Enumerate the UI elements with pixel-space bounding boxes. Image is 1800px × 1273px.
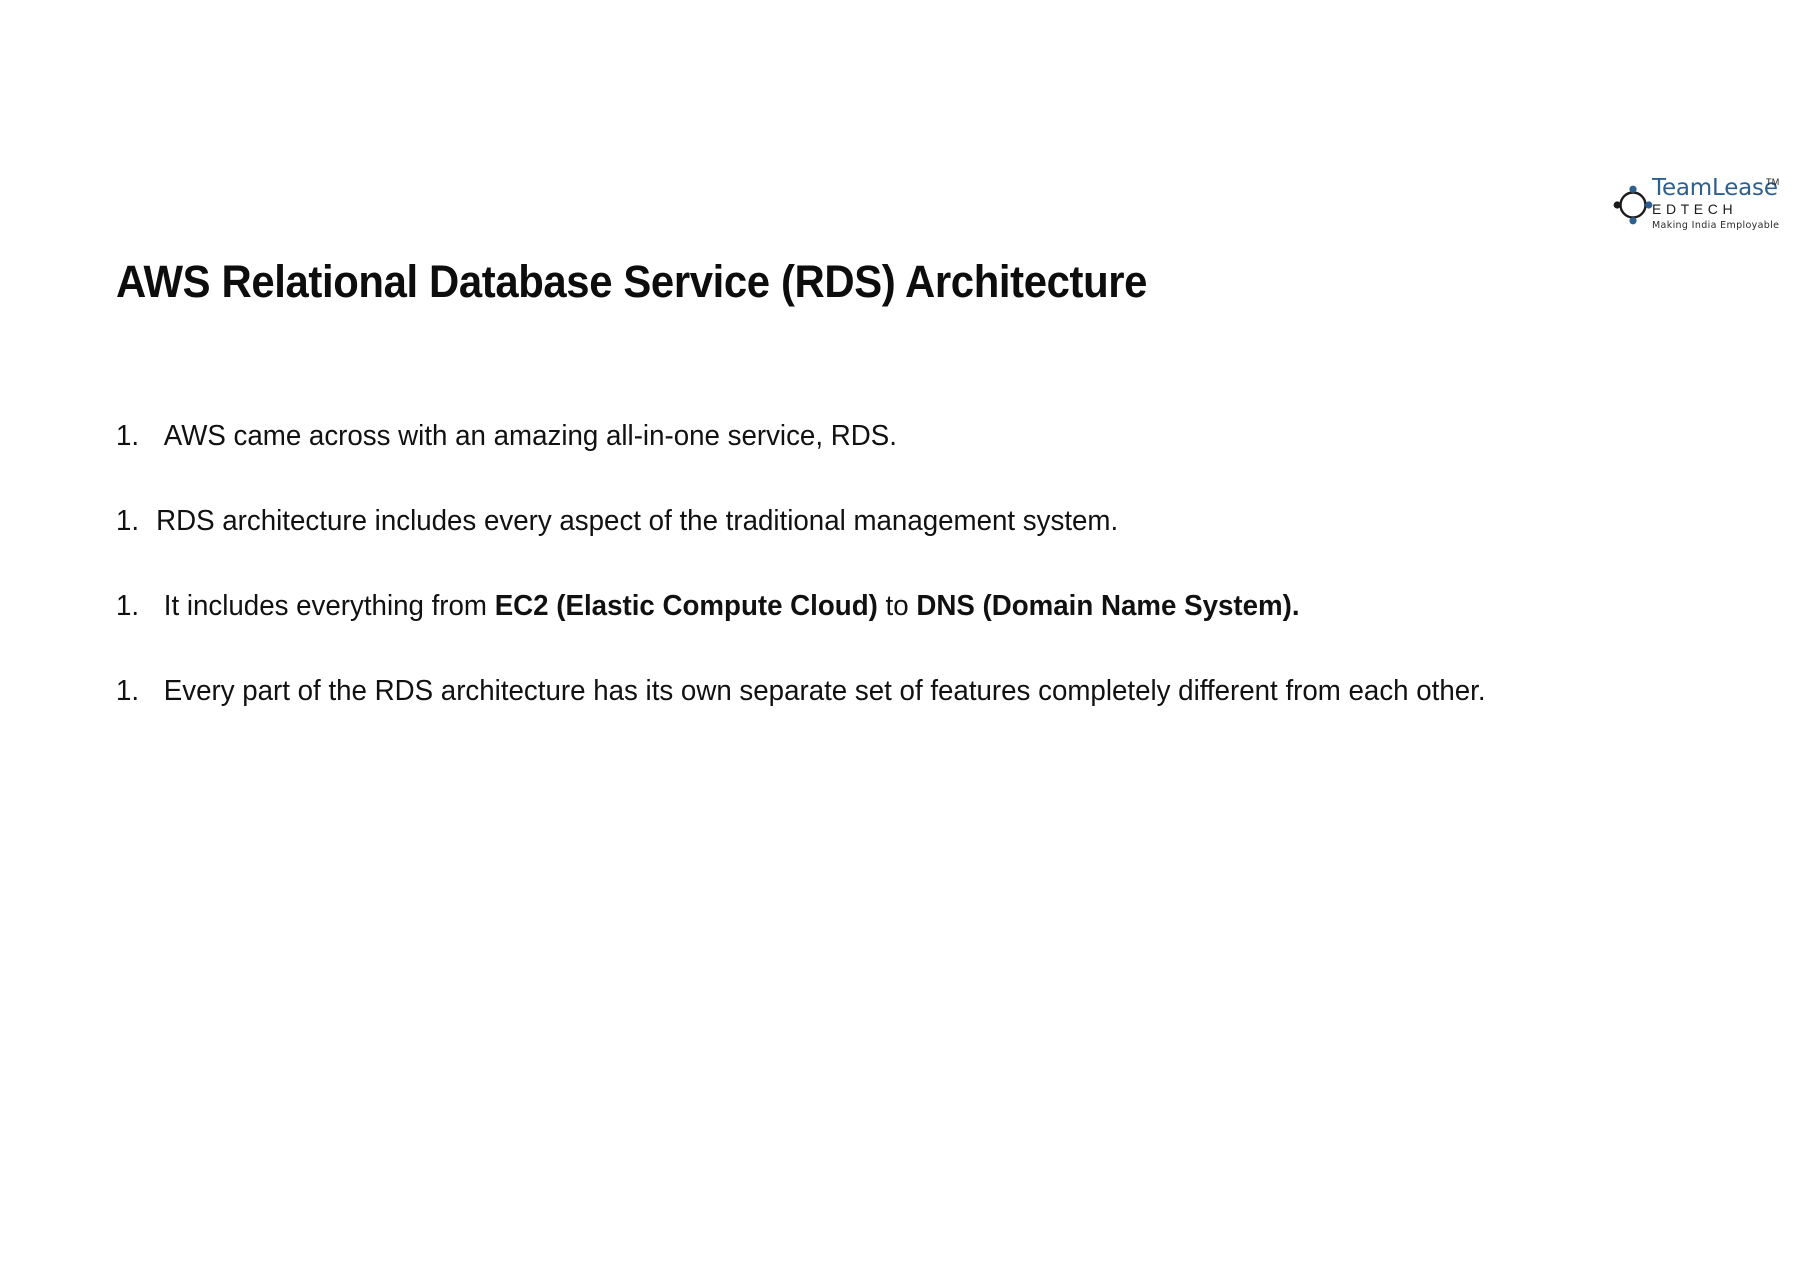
list-item-text-plain: It includes everything from xyxy=(164,590,495,622)
bullet-list: 1.AWS came across with an amazing all-in… xyxy=(116,415,1616,712)
list-item-text: It includes everything from EC2 (Elastic… xyxy=(164,585,1549,627)
list-item: 1.AWS came across with an amazing all-in… xyxy=(116,415,1549,457)
teamlease-circle-dots-icon xyxy=(1612,184,1654,226)
list-item-text: AWS came across with an amazing all-in-o… xyxy=(164,415,1549,457)
list-item: 1.RDS architecture includes every aspect… xyxy=(116,500,1549,542)
list-item-text-bold: DNS (Domain Name System). xyxy=(916,590,1299,622)
logo-wordmark: TeamLease xyxy=(1652,175,1778,201)
list-item: 1.It includes everything from EC2 (Elast… xyxy=(116,585,1549,627)
list-item-text-plain: Every part of the RDS architecture has i… xyxy=(164,675,1486,707)
list-item-text: RDS architecture includes every aspect o… xyxy=(156,500,1548,542)
logo-text-group: TeamLease TM EDTECH Making India Employa… xyxy=(1652,176,1792,232)
list-item-text-plain: to xyxy=(878,590,916,622)
presentation-slide: TeamLease TM EDTECH Making India Employa… xyxy=(0,0,1800,1273)
list-item-marker: 1. xyxy=(116,415,164,457)
list-item-text-plain: AWS came across with an amazing all-in-o… xyxy=(164,420,897,452)
logo-subbrand: EDTECH xyxy=(1652,201,1792,218)
list-item: 1.Every part of the RDS architecture has… xyxy=(116,670,1549,712)
logo-trademark-symbol: TM xyxy=(1766,177,1780,187)
teamlease-edtech-logo: TeamLease TM EDTECH Making India Employa… xyxy=(1612,176,1792,240)
list-item-marker: 1. xyxy=(116,585,164,627)
list-item-text-bold: EC2 (Elastic Compute Cloud) xyxy=(495,590,878,622)
list-item-text-plain: RDS architecture includes every aspect o… xyxy=(156,505,1118,537)
list-item-marker: 1. xyxy=(116,670,164,712)
logo-tagline: Making India Employable xyxy=(1652,220,1792,232)
slide-title: AWS Relational Database Service (RDS) Ar… xyxy=(116,255,1147,309)
list-item-text: Every part of the RDS architecture has i… xyxy=(164,670,1549,712)
list-item-marker: 1. xyxy=(116,500,156,542)
